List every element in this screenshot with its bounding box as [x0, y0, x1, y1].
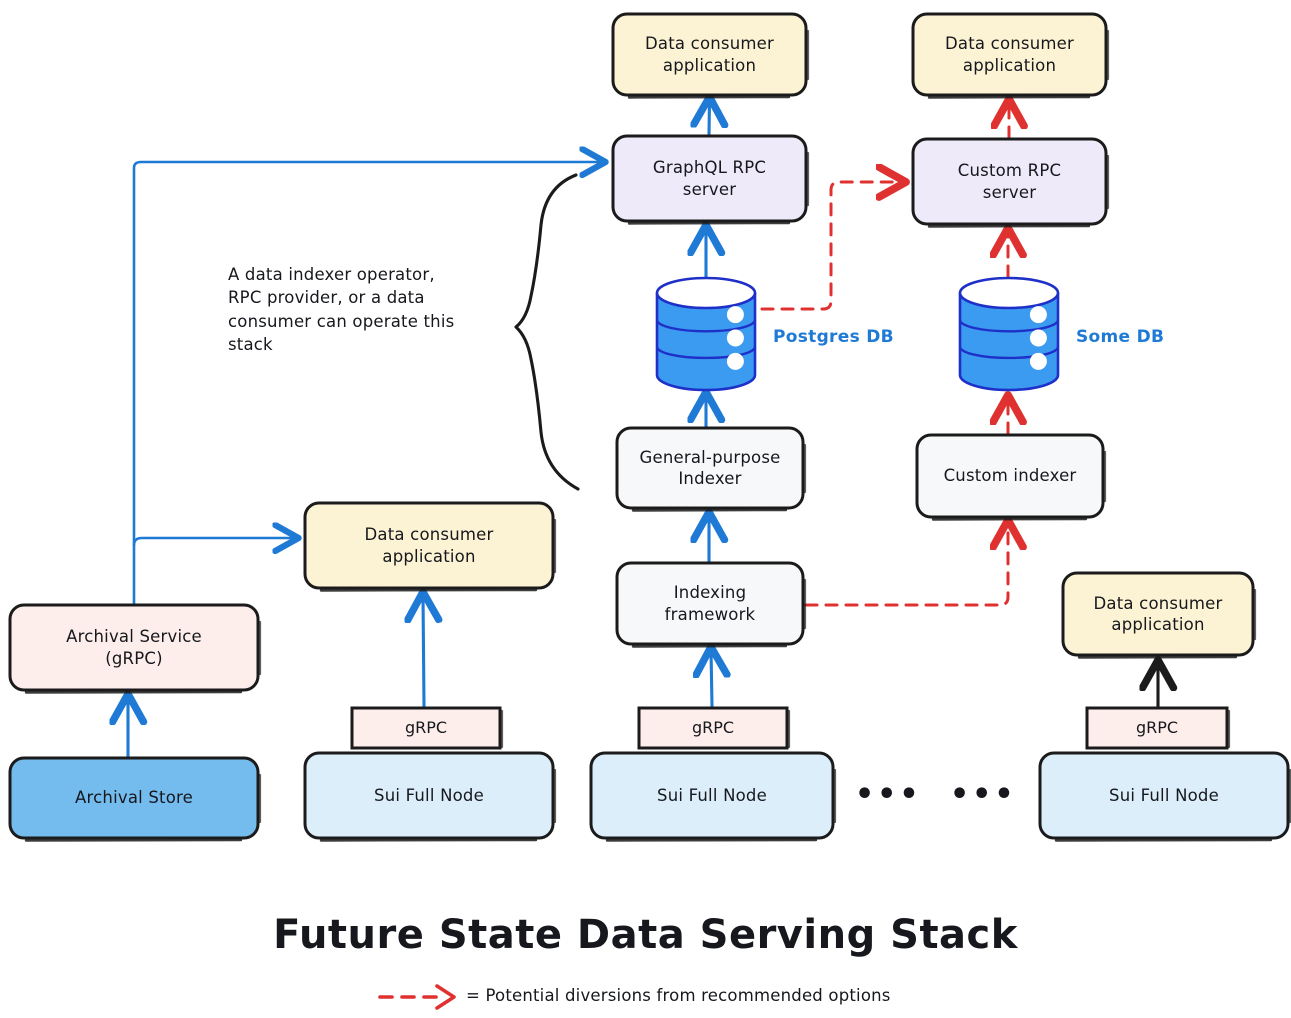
- node-custom-rpc[interactable]: [913, 139, 1108, 227]
- legend-label: = Potential diversions from recommended …: [466, 986, 891, 1005]
- node-gp-indexer[interactable]: [617, 428, 805, 511]
- node-custom-indexer[interactable]: [917, 435, 1105, 520]
- page-title: Future State Data Serving Stack: [0, 912, 1291, 958]
- node-archival-svc[interactable]: [10, 605, 260, 693]
- node-dc-archival[interactable]: [305, 503, 555, 591]
- node-node-left[interactable]: [305, 753, 555, 841]
- operator-annotation: A data indexer operator, RPC provider, o…: [228, 263, 518, 357]
- node-dc-graphql[interactable]: [613, 14, 808, 98]
- database-postgres-db[interactable]: [657, 278, 755, 390]
- database-some-db[interactable]: [960, 278, 1058, 390]
- ellipsis-right: •••: [950, 780, 1017, 810]
- grpc-tab-grpc-mid[interactable]: [639, 708, 789, 748]
- node-node-right[interactable]: [1040, 753, 1290, 841]
- node-indexing-fw[interactable]: [617, 563, 805, 647]
- node-dc-right[interactable]: [1063, 573, 1255, 658]
- ellipsis-left: •••: [855, 780, 922, 810]
- node-graphql-rpc[interactable]: [613, 136, 808, 224]
- grpc-tab-grpc-right[interactable]: [1087, 708, 1229, 748]
- node-archival-store[interactable]: [10, 758, 260, 841]
- diagram-canvas: Data consumerapplicationData consumerapp…: [0, 0, 1291, 1018]
- node-node-mid[interactable]: [591, 753, 835, 841]
- nodes-layer: [0, 0, 1291, 1018]
- node-dc-custom[interactable]: [913, 14, 1108, 98]
- grpc-tab-grpc-left[interactable]: [352, 708, 502, 748]
